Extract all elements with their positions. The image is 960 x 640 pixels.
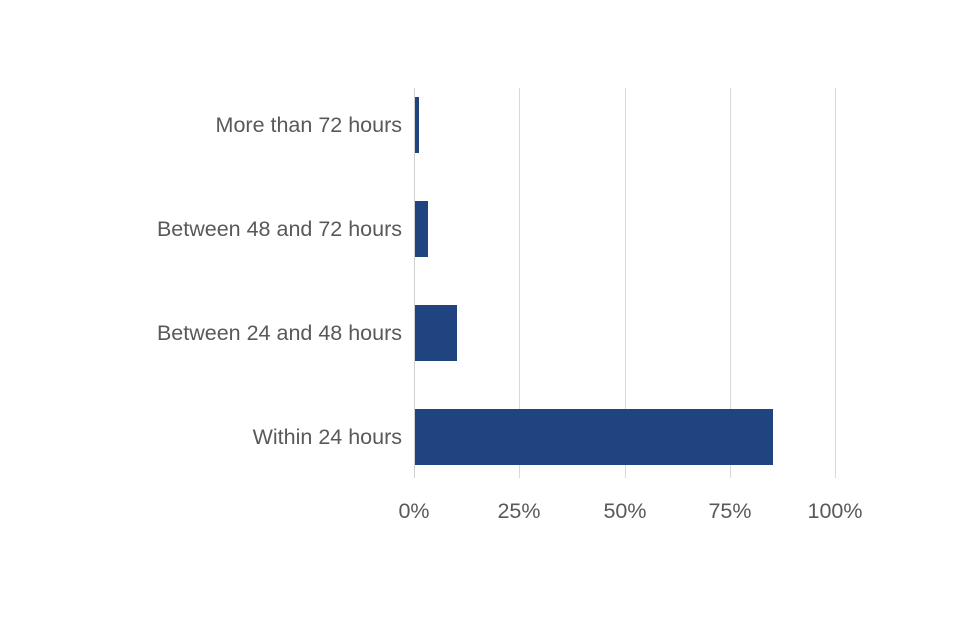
bar-chart: More than 72 hours Between 48 and 72 hou… bbox=[0, 0, 960, 640]
category-label-within-24-hours: Within 24 hours bbox=[0, 424, 402, 450]
bar-between-24-and-48-hours[interactable] bbox=[415, 305, 457, 361]
bar-between-48-and-72-hours[interactable] bbox=[415, 201, 428, 257]
xtick-label-25: 25% bbox=[459, 498, 579, 524]
xtick-label-50: 50% bbox=[565, 498, 685, 524]
xtick-label-75: 75% bbox=[670, 498, 790, 524]
category-axis-labels: More than 72 hours Between 48 and 72 hou… bbox=[0, 88, 402, 478]
gridline-100 bbox=[835, 88, 836, 478]
category-label-between-48-and-72-hours: Between 48 and 72 hours bbox=[0, 216, 402, 242]
plot-area bbox=[414, 88, 835, 478]
bar-more-than-72-hours[interactable] bbox=[415, 97, 419, 153]
bar-within-24-hours[interactable] bbox=[415, 409, 773, 465]
category-label-more-than-72-hours: More than 72 hours bbox=[0, 112, 402, 138]
category-label-between-24-and-48-hours: Between 24 and 48 hours bbox=[0, 320, 402, 346]
xtick-label-100: 100% bbox=[775, 498, 895, 524]
value-axis-labels: 0% 25% 50% 75% 100% bbox=[414, 498, 835, 528]
xtick-label-0: 0% bbox=[354, 498, 474, 524]
